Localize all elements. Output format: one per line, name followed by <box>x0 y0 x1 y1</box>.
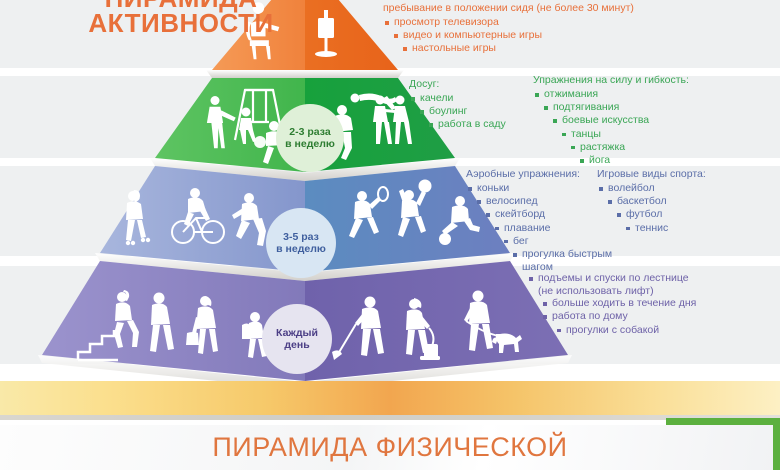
section-header: пребывание в положении сидя (не более 30… <box>383 2 634 14</box>
list-item: работа по дому <box>541 310 699 323</box>
badge-line-1: 3-5 раз <box>283 231 319 243</box>
list-item: подтягивания <box>542 101 689 114</box>
frequency-badge-blue: 3-5 раз в неделю <box>266 208 336 278</box>
page-title-bottom: ПИРАМИДА ФИЗИЧЕСКОЙ <box>0 432 780 463</box>
badge-line-1: Каждый <box>276 327 318 339</box>
text-block-blue-team-sports: Игровые виды спорта: волейбол баскетбол … <box>597 168 706 235</box>
list-item: теннис <box>624 222 706 235</box>
text-block-orange: пребывание в положении сидя (не более 30… <box>383 2 634 56</box>
list-item: йога <box>578 154 689 167</box>
list-item: баскетбол <box>606 195 706 208</box>
list-item: бег <box>502 235 629 248</box>
bullet-list: просмотр телевизора видео и компьютерные… <box>383 16 634 56</box>
bullet-list: качели боулинг работа в саду <box>409 92 506 132</box>
list-item: прогулка быстрым шагом <box>511 248 629 273</box>
list-item: боулинг <box>418 105 506 118</box>
list-item: прогулки с собакой <box>555 324 699 337</box>
section-header: Досуг: <box>409 78 506 90</box>
list-item: качели <box>409 92 506 105</box>
list-item: настольные игры <box>401 42 634 55</box>
frequency-badge-purple: Каждый день <box>262 304 332 374</box>
badge-line-2: день <box>284 339 309 351</box>
text-block-green-leisure: Досуг: качели боулинг работа в саду <box>409 78 506 132</box>
list-item: танцы <box>560 128 689 141</box>
bullet-list: подъемы и спуски по лестнице (не использ… <box>527 272 699 337</box>
list-item: волейбол <box>597 182 706 195</box>
list-item: футбол <box>615 208 706 221</box>
list-item: боевые искусства <box>551 114 689 127</box>
list-item: работа в саду <box>427 118 506 131</box>
badge-line-1: 2-3 раза <box>289 126 330 138</box>
bullet-list: волейбол баскетбол футбол теннис <box>597 182 706 235</box>
list-item: подъемы и спуски по лестнице (не использ… <box>527 272 699 297</box>
badge-line-2: в неделю <box>276 243 326 255</box>
list-item: видео и компьютерные игры <box>392 29 634 42</box>
section-header: Игровые виды спорта: <box>597 168 706 180</box>
list-item: отжимания <box>533 88 689 101</box>
section-header: Упражнения на силу и гибкость: <box>533 74 689 86</box>
list-item: просмотр телевизора <box>383 16 634 29</box>
text-block-green-strength: Упражнения на силу и гибкость: отжимания… <box>533 74 689 167</box>
page-title-top-line2: АКТИВНОСТИ <box>56 11 306 36</box>
list-item: растяжка <box>569 141 689 154</box>
bullet-list: отжимания подтягивания боевые искусства … <box>533 88 689 167</box>
infographic-canvas: 2-3 раза в неделю 3-5 раз в неделю Кажды… <box>0 0 780 470</box>
frequency-badge-green: 2-3 раза в неделю <box>276 104 344 172</box>
badge-line-2: в неделю <box>285 138 335 150</box>
decorative-gradient-bar <box>0 381 780 420</box>
page-title-top: ПИРАМИДА АКТИВНОСТИ <box>56 0 306 36</box>
text-block-purple-daily: подъемы и спуски по лестнице (не использ… <box>527 272 699 337</box>
list-item: больше ходить в течение дня <box>541 297 699 310</box>
